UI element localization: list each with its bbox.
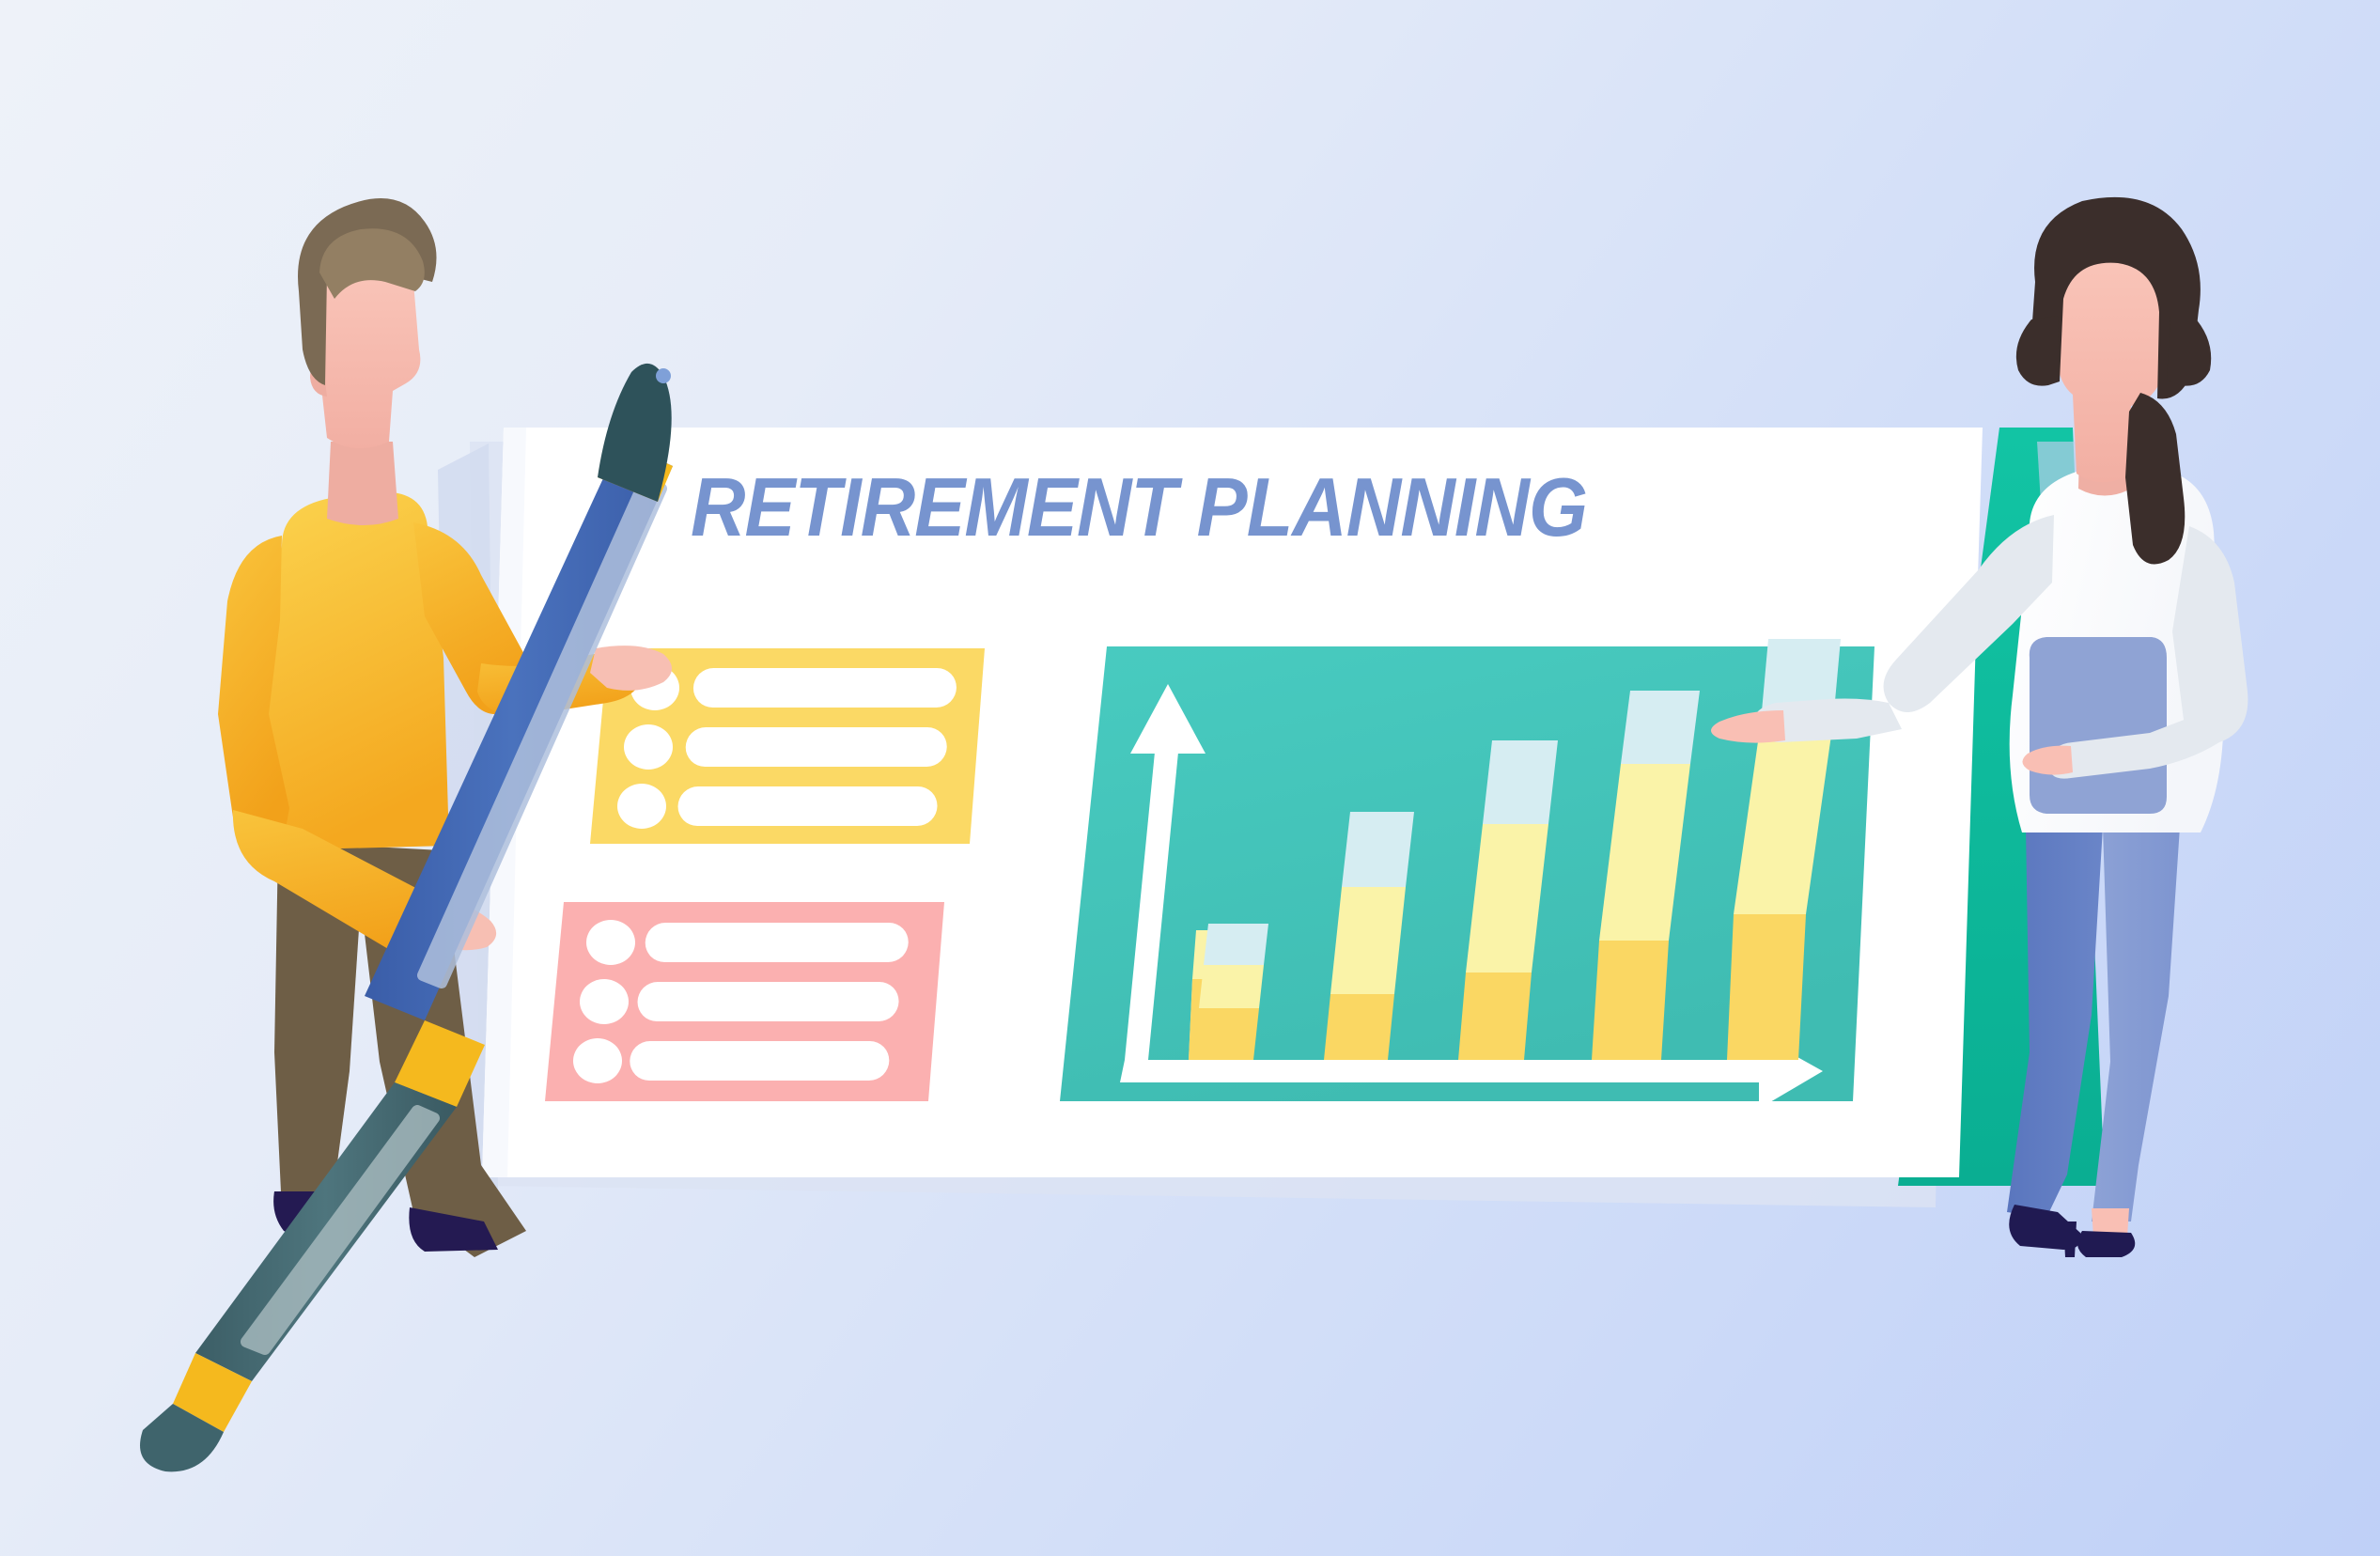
pen-cap-tip [656, 368, 671, 383]
illustration-canvas: RETIREMENT PLANNING [0, 0, 2380, 1556]
bullet-circle [573, 1038, 622, 1083]
bullet-circle [624, 724, 673, 770]
text-line-placeholder [685, 727, 947, 767]
text-line-placeholder [630, 1041, 890, 1081]
woman-front-leg [2092, 827, 2180, 1221]
woman-hair-left-wing [2016, 316, 2060, 386]
man-neck [327, 442, 398, 525]
bar-chart-panel[interactable] [1060, 639, 1874, 1109]
woman-tablet [2030, 637, 2167, 814]
bullet-circle [617, 784, 666, 829]
bullet-circle [586, 920, 635, 965]
pen-cap [598, 364, 672, 502]
woman-ponytail [2125, 393, 2185, 564]
bullet-circle [580, 979, 629, 1024]
pink-checklist-card[interactable] [545, 902, 944, 1101]
woman-back-heel [2063, 1221, 2077, 1257]
text-line-placeholder [693, 668, 957, 708]
woman-hair-right-wing [2167, 316, 2211, 386]
text-line-placeholder [645, 923, 909, 962]
text-line-placeholder [637, 982, 899, 1021]
woman-front-shoe [2077, 1231, 2135, 1257]
illustration-svg [0, 0, 2380, 1556]
pen-barrel-highlight [246, 1111, 434, 1349]
text-line-placeholder [677, 786, 938, 826]
page-title: RETIREMENT PLANNING [691, 466, 1728, 549]
